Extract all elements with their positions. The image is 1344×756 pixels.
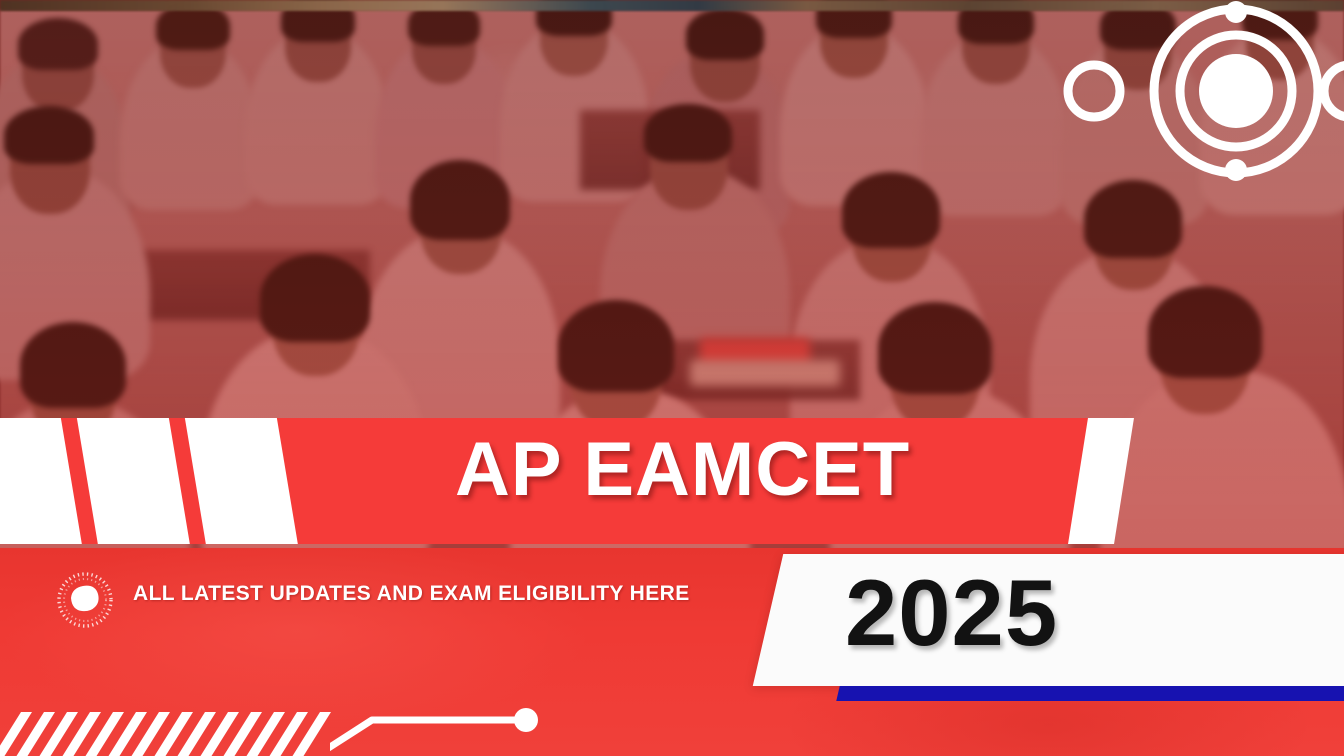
title-stripe [72,418,196,544]
dotted-circle-icon [55,570,115,630]
blue-accent-bar [836,686,1344,701]
ap-eamcet-banner: AP EAMCET ALL LATEST UPDATES AND EXAM EL… [0,0,1344,756]
year-label: 2025 [845,566,1058,660]
line-with-dot-decoration [330,700,560,756]
title-stripe [0,418,88,544]
concentric-circles-icon [1058,0,1344,204]
title-stripe [180,418,304,544]
page-title: AP EAMCET [455,432,910,508]
subtitle: ALL LATEST UPDATES AND EXAM ELIGIBILITY … [133,578,733,609]
